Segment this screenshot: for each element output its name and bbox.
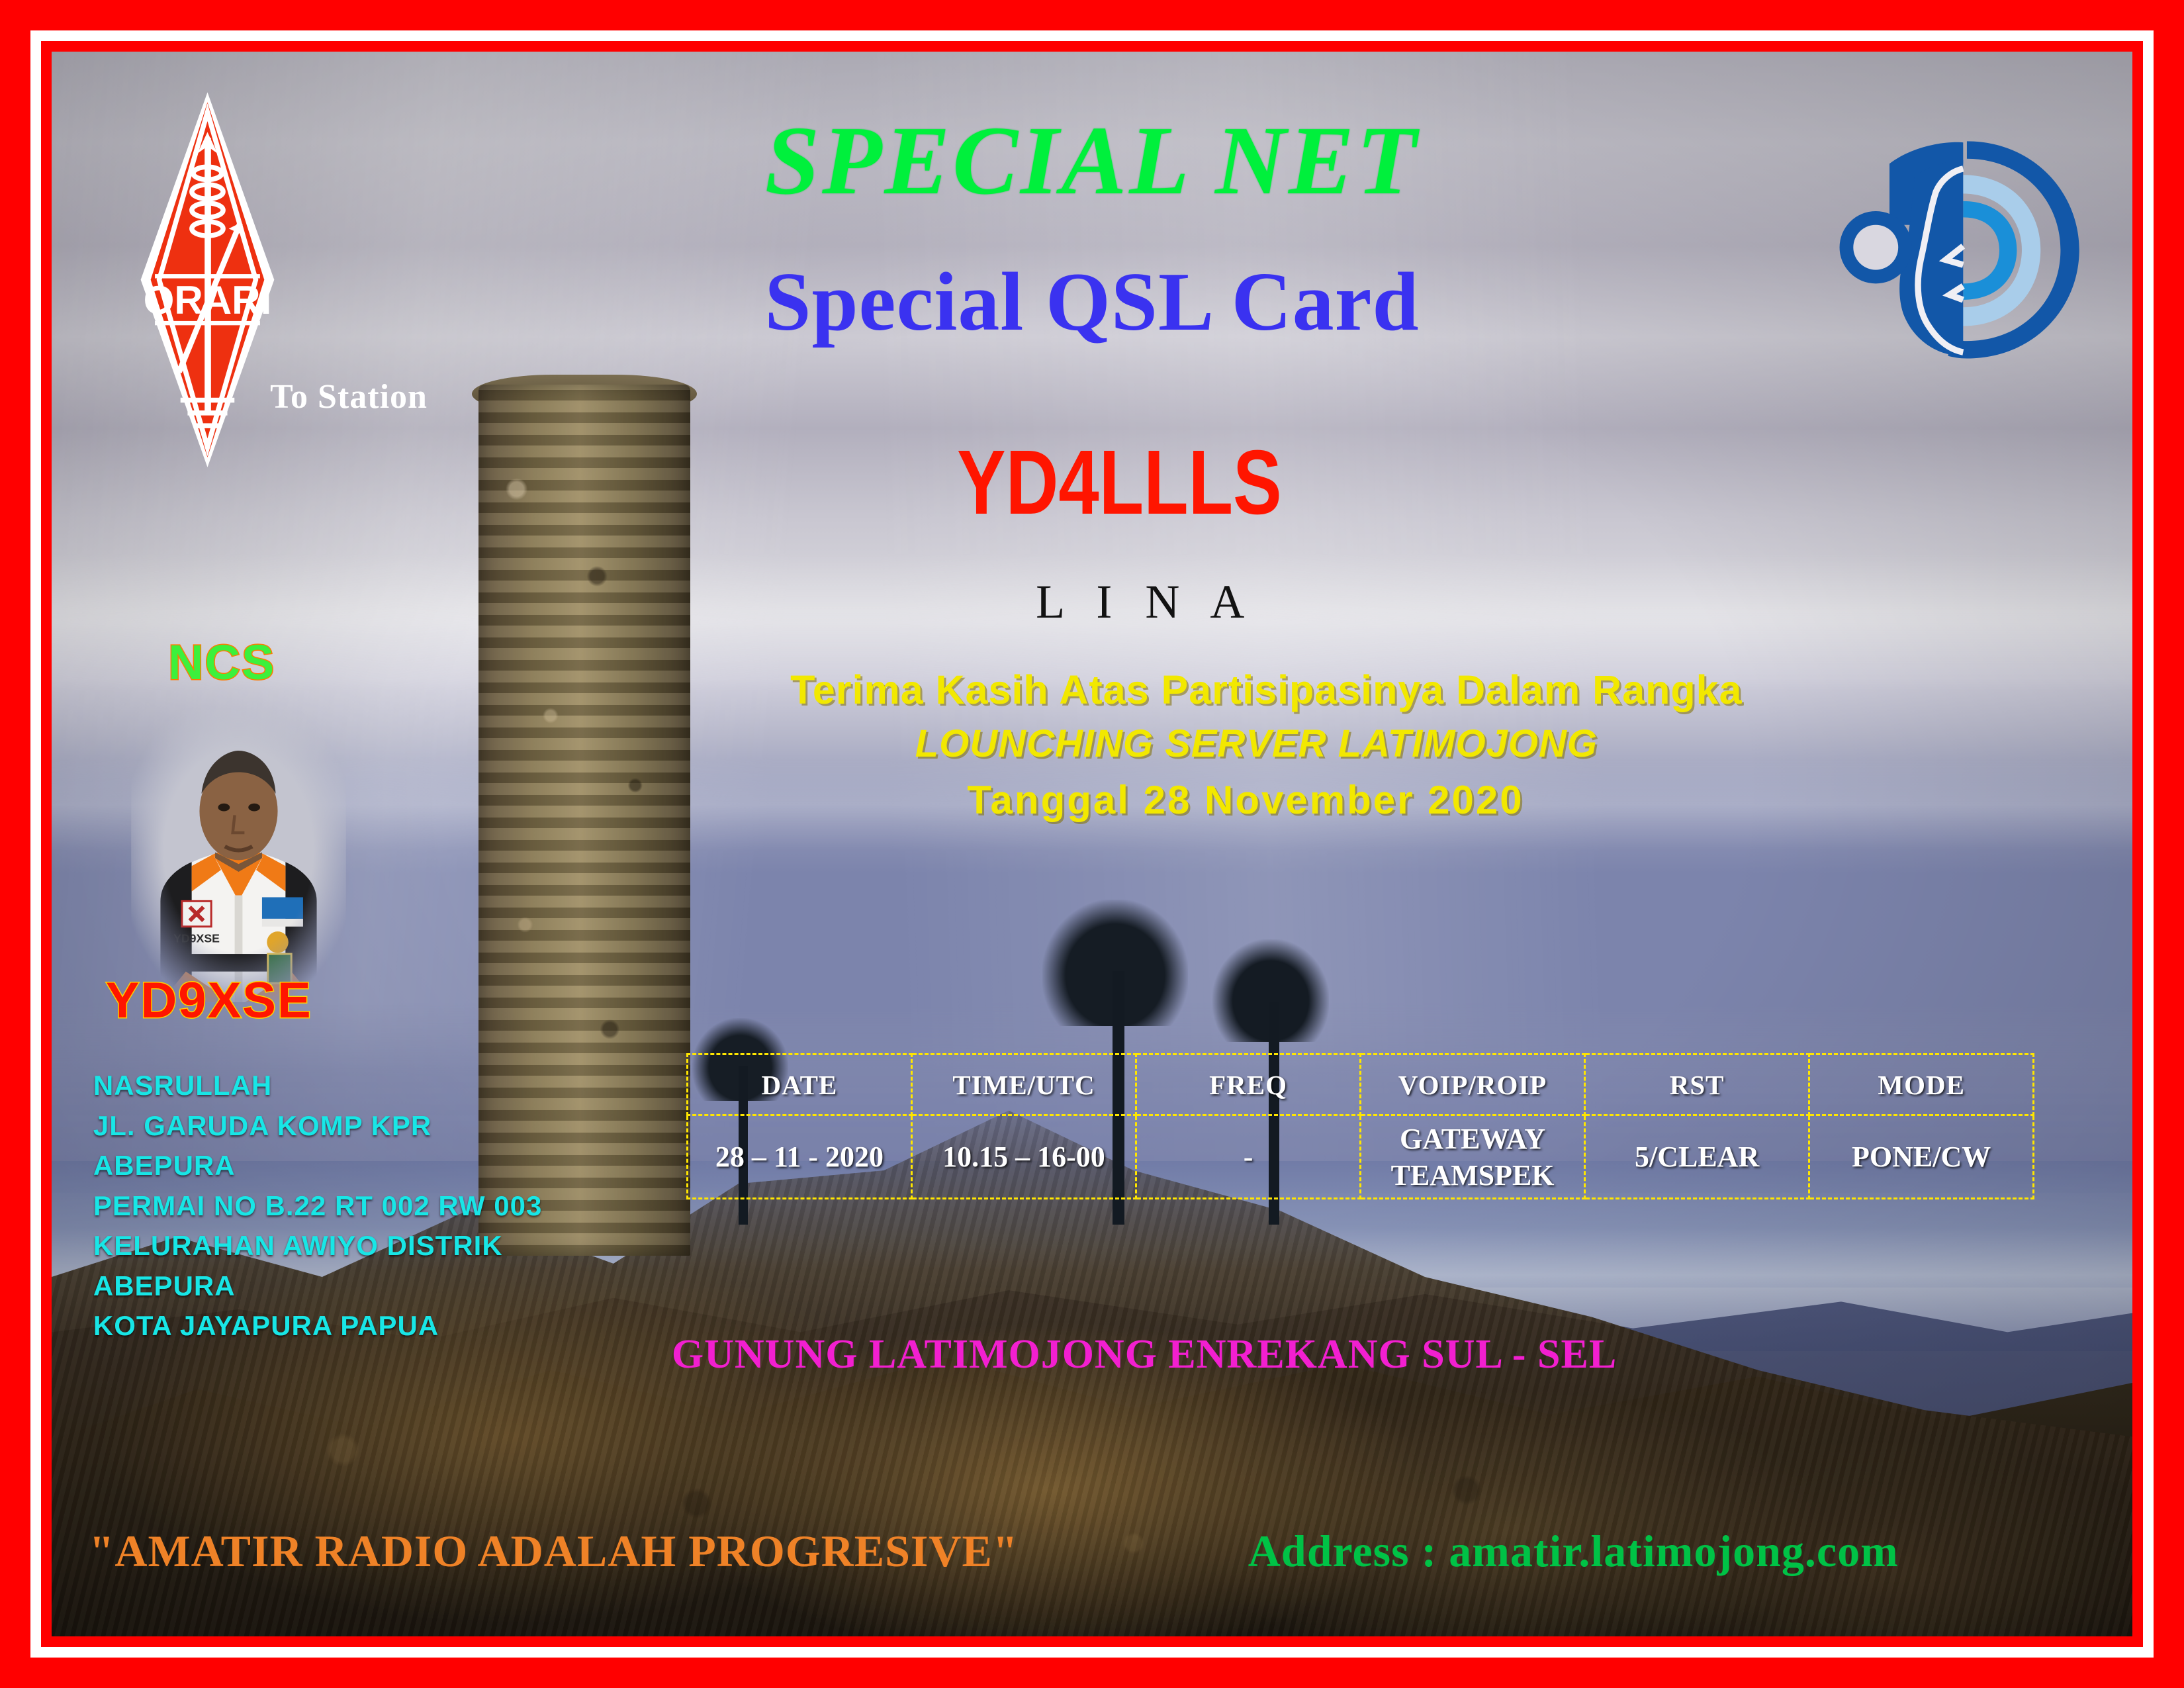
table-cell: - xyxy=(1136,1115,1361,1199)
table-cell: 10.15 – 16-00 xyxy=(911,1115,1136,1199)
table-header-cell: RST xyxy=(1585,1055,1809,1115)
motto-text: "AMATIR RADIO ADALAH PROGRESIVE" xyxy=(89,1528,1019,1573)
ncs-label: NCS xyxy=(168,638,275,687)
web-address-label: Address : amatir.latimojong.com xyxy=(1248,1528,1899,1573)
qsl-card: ORARI SPECIAL NET S xyxy=(0,0,2184,1688)
table-row: 28 – 11 - 202010.15 – 16-00-GATEWAYTEAMS… xyxy=(687,1115,2033,1199)
page-title: SPECIAL NET xyxy=(765,112,1419,210)
operator-name: L I N A xyxy=(1036,578,1255,626)
headset-radio-wave-logo xyxy=(1835,99,2084,400)
address-line: ABEPURA xyxy=(93,1146,542,1186)
orari-logo-text: ORARI xyxy=(144,278,272,322)
address-line: KOTA JAYAPURA PAPUA xyxy=(93,1306,542,1346)
event-date: Tanggal 28 November 2020 xyxy=(967,780,1524,820)
table-cell: PONE/CW xyxy=(1809,1115,2034,1199)
ncs-callsign: YD9XSE xyxy=(106,976,312,1026)
table-header-cell: TIME/UTC xyxy=(911,1055,1136,1115)
qso-details-table: DATETIME/UTCFREQVOIP/ROIPRSTMODE28 – 11 … xyxy=(686,1053,2034,1199)
to-station-label: To Station xyxy=(270,380,428,414)
svg-text:YD9XSE: YD9XSE xyxy=(174,931,220,945)
table-cell: GATEWAYTEAMSPEK xyxy=(1361,1115,1585,1199)
card-photo-background: ORARI SPECIAL NET S xyxy=(52,52,2132,1636)
address-line: ABEPURA xyxy=(93,1266,542,1306)
table-header-row: DATETIME/UTCFREQVOIP/ROIPRSTMODE xyxy=(687,1055,2033,1115)
address-line: PERMAI NO B.22 RT 002 RW 003 xyxy=(93,1186,542,1226)
table-header-cell: DATE xyxy=(687,1055,911,1115)
operator-portrait: YD9XSE xyxy=(101,710,376,1003)
operator-address: NASRULLAHJL. GARUDA KOMP KPRABEPURAPERMA… xyxy=(93,1066,542,1346)
location-label: GUNUNG LATIMOJONG ENREKANG SUL - SEL xyxy=(672,1334,1617,1375)
address-line: JL. GARUDA KOMP KPR xyxy=(93,1106,542,1146)
table-header-cell: MODE xyxy=(1809,1055,2034,1115)
event-name: LOUNCHING SERVER LATIMOJONG xyxy=(915,725,1598,763)
address-line: KELURAHAN AWIYO DISTRIK xyxy=(93,1226,542,1266)
page-subtitle: Special QSL Card xyxy=(764,261,1419,344)
table-cell: 5/CLEAR xyxy=(1585,1115,1809,1199)
table-cell: 28 – 11 - 2020 xyxy=(687,1115,911,1199)
address-line: NASRULLAH xyxy=(93,1066,542,1105)
table-header-cell: FREQ xyxy=(1136,1055,1361,1115)
station-callsign: YD4LLLS xyxy=(957,437,1282,528)
thanks-line-1: Terima Kasih Atas Partisipasinya Dalam R… xyxy=(790,670,1742,710)
table-header-cell: VOIP/ROIP xyxy=(1361,1055,1585,1115)
